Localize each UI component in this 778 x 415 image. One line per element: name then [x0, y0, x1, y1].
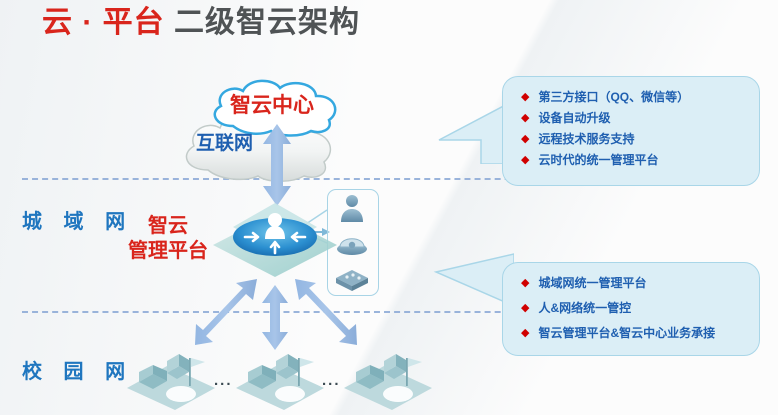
diamond-bullet-icon: ◆ — [521, 134, 529, 145]
diamond-bullet-icon: ◆ — [521, 328, 529, 339]
callout-top-item-2[interactable]: ◆ 设备自动升级 — [521, 111, 745, 125]
callout-bottom-item-1[interactable]: ◆ 城域网统一管理平台 — [521, 276, 745, 290]
zhiyun-center-label: 智云中心 — [230, 89, 314, 119]
zone-label-metro: 城 域 网 — [22, 205, 133, 234]
callout-top-list: ◆ 第三方接口（QQ、微信等） ◆ 设备自动升级 ◆ 远程技术服务支持 ◆ 云时… — [521, 90, 745, 167]
callout-top-item-1[interactable]: ◆ 第三方接口（QQ、微信等） — [521, 90, 745, 104]
internet-cloud-label: 互联网 — [196, 128, 253, 155]
diamond-bullet-icon: ◆ — [521, 155, 529, 166]
title-red-part: 云 · 平台 — [42, 6, 165, 39]
diamond-bullet-icon: ◆ — [521, 92, 529, 103]
diamond-bullet-icon: ◆ — [521, 278, 529, 289]
school-building-icon — [340, 348, 436, 410]
platform-label: 智云 管理平台 — [122, 214, 214, 264]
page-title: 云 · 平台 二级智云架构 — [42, 4, 360, 42]
platform-label-line2: 管理平台 — [122, 239, 214, 264]
callout-bottom-item-2-label: 人&网络统一管控 — [538, 301, 631, 315]
platform-label-line1: 智云 — [122, 214, 214, 239]
zhiyun-management-platform-icon — [205, 195, 345, 290]
campus-node-2[interactable] — [232, 348, 328, 410]
callout-bottom-list: ◆ 城域网统一管理平台 ◆ 人&网络统一管控 ◆ 智云管理平台&智云中心业务承接 — [521, 276, 745, 340]
school-building-icon — [232, 348, 328, 410]
campus-node-1[interactable] — [123, 348, 219, 410]
diamond-bullet-icon: ◆ — [521, 113, 529, 124]
callout-bottom-item-3-label: 智云管理平台&智云中心业务承接 — [538, 326, 715, 340]
callout-top-item-1-label: 第三方接口（QQ、微信等） — [538, 90, 689, 104]
callout-top-item-3[interactable]: ◆ 远程技术服务支持 — [521, 132, 745, 146]
callout-box-metro-capabilities[interactable]: ◆ 城域网统一管理平台 ◆ 人&网络统一管控 ◆ 智云管理平台&智云中心业务承接 — [502, 262, 760, 356]
diamond-bullet-icon: ◆ — [521, 303, 529, 314]
campus-ellipsis-2: ... — [322, 372, 341, 389]
callout-box-features[interactable]: ◆ 第三方接口（QQ、微信等） ◆ 设备自动升级 ◆ 远程技术服务支持 ◆ 云时… — [502, 76, 760, 186]
campus-node-3[interactable] — [340, 348, 436, 410]
callout-bottom-item-3[interactable]: ◆ 智云管理平台&智云中心业务承接 — [521, 326, 745, 340]
callout-bottom-item-1-label: 城域网统一管理平台 — [538, 276, 646, 290]
callout-top-item-4[interactable]: ◆ 云时代的统一管理平台 — [521, 153, 745, 167]
callout-top-item-4-label: 云时代的统一管理平台 — [538, 153, 658, 167]
school-building-icon — [123, 348, 219, 410]
callout-top-item-3-label: 远程技术服务支持 — [538, 132, 634, 146]
callout-bottom-item-2[interactable]: ◆ 人&网络统一管控 — [521, 301, 745, 315]
zone-label-campus: 校 园 网 — [22, 355, 133, 384]
title-gray-part: 二级智云架构 — [174, 6, 360, 39]
callout-top-item-2-label: 设备自动升级 — [538, 111, 610, 125]
campus-ellipsis-1: ... — [214, 372, 233, 389]
diagram-canvas: 云 · 平台 二级智云架构 城 域 网 校 园 网 互联网 智云中心 — [0, 0, 778, 415]
arrow-platform-to-campus-2 — [262, 285, 288, 350]
